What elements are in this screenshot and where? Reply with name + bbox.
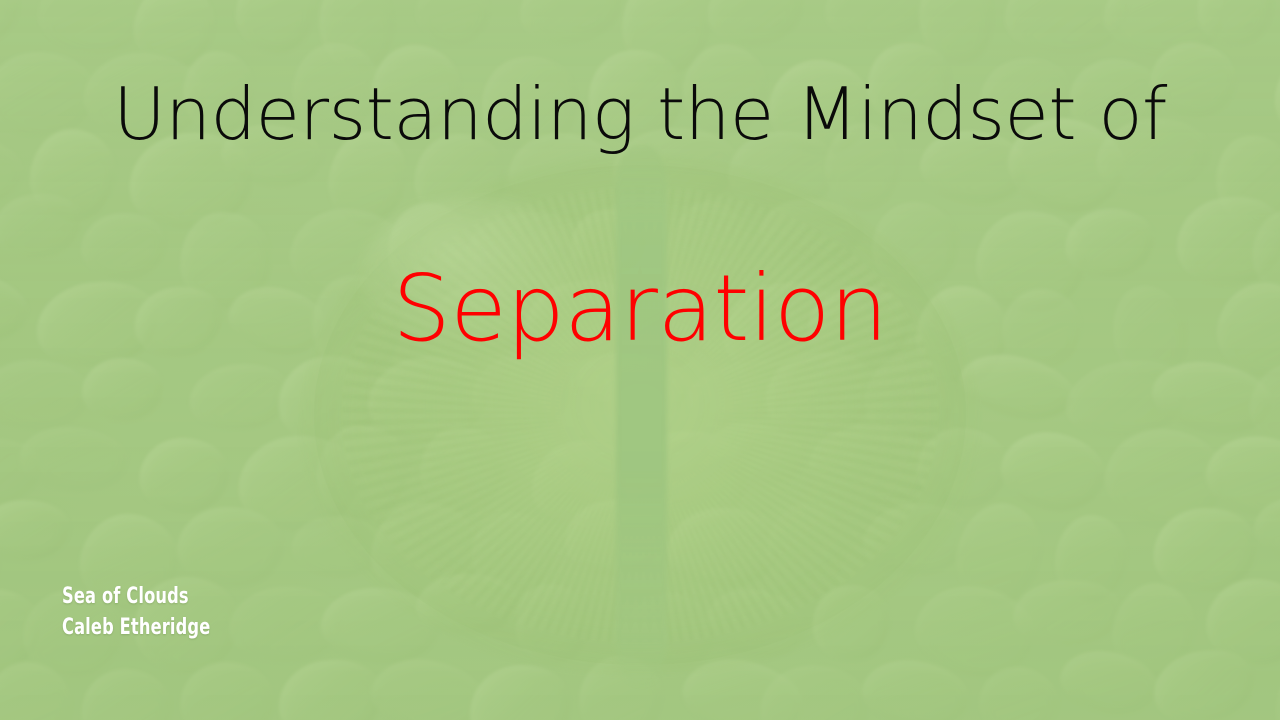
credits-line-title: Sea of Clouds — [62, 581, 210, 612]
credits-block: Sea of Clouds Caleb Etheridge — [62, 581, 210, 643]
slide-content: Understanding the Mindset of Separation … — [0, 0, 1280, 720]
credits-line-author: Caleb Etheridge — [62, 612, 210, 643]
slide-subtitle: Separation — [0, 258, 1280, 359]
slide-title: Understanding the Mindset of — [0, 74, 1280, 155]
presentation-slide: Understanding the Mindset of Separation … — [0, 0, 1280, 720]
